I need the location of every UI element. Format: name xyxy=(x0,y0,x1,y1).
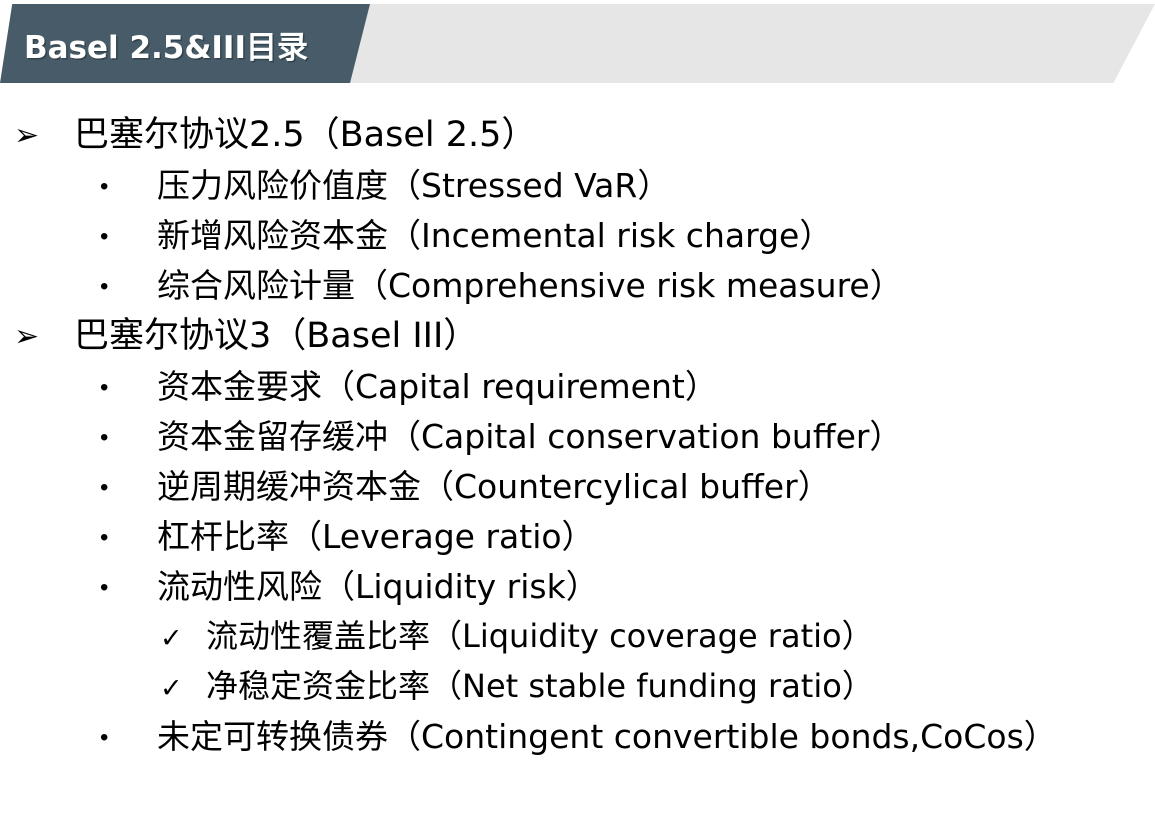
bullet-glyph-level2: • xyxy=(100,225,157,249)
outline-item-level2: •新增风险资本金（Incemental risk charge） xyxy=(0,219,1155,269)
bullet-glyph-level2: • xyxy=(100,726,157,750)
outline-item-label: 巴塞尔协议2.5（Basel 2.5） xyxy=(74,118,536,153)
bullet-glyph-level2: • xyxy=(100,426,157,450)
bullet-glyph-level1: ➢ xyxy=(14,322,74,352)
outline-item-label: 净稳定资金比率（Net stable funding ratio） xyxy=(206,670,874,702)
outline-item-level3: ✓流动性覆盖比率（Liquidity coverage ratio） xyxy=(0,620,1155,670)
bullet-glyph-level3: ✓ xyxy=(160,625,206,652)
outline-item-label: 流动性风险（Liquidity risk） xyxy=(157,570,599,603)
bullet-glyph-level2: • xyxy=(100,376,157,400)
outline-item-label: 巴塞尔协议3（Basel III） xyxy=(74,319,478,354)
outline-item-label: 资本金要求（Capital requirement） xyxy=(157,370,718,403)
bullet-glyph-level2: • xyxy=(100,526,157,550)
outline-list: ➢巴塞尔协议2.5（Basel 2.5）•压力风险价值度（Stressed Va… xyxy=(0,118,1155,770)
outline-item-label: 逆周期缓冲资本金（Countercylical buffer） xyxy=(157,470,831,503)
outline-item-level1: ➢巴塞尔协议2.5（Basel 2.5） xyxy=(0,118,1155,169)
outline-item-level2: •资本金留存缓冲（Capital conservation buffer） xyxy=(0,420,1155,470)
title-banner: Basel 2.5&III目录 xyxy=(0,0,1155,92)
outline-item-level2: •杠杆比率（Leverage ratio） xyxy=(0,520,1155,570)
outline-item-level2: •压力风险价值度（Stressed VaR） xyxy=(0,169,1155,219)
outline-item-label: 杠杆比率（Leverage ratio） xyxy=(157,520,595,553)
bullet-glyph-level2: • xyxy=(100,175,157,199)
outline-item-level1: ➢巴塞尔协议3（Basel III） xyxy=(0,319,1155,370)
outline-item-level2: •综合风险计量（Comprehensive risk measure） xyxy=(0,269,1155,319)
slide-title: Basel 2.5&III目录 xyxy=(24,22,308,67)
outline-item-level3: ✓净稳定资金比率（Net stable funding ratio） xyxy=(0,670,1155,720)
bullet-glyph-level2: • xyxy=(100,476,157,500)
bullet-glyph-level2: • xyxy=(100,576,157,600)
outline-item-label: 资本金留存缓冲（Capital conservation buffer） xyxy=(157,420,902,453)
bullet-glyph-level3: ✓ xyxy=(160,675,206,702)
outline-item-level2: •流动性风险（Liquidity risk） xyxy=(0,570,1155,620)
outline-item-level2: •未定可转换债券（Contingent convertible bonds,Co… xyxy=(0,720,1155,770)
bullet-glyph-level1: ➢ xyxy=(14,121,74,151)
outline-item-label: 压力风险价值度（Stressed VaR） xyxy=(157,169,670,202)
outline-item-label: 流动性覆盖比率（Liquidity coverage ratio） xyxy=(206,620,874,652)
outline-item-label: 新增风险资本金（Incemental risk charge） xyxy=(157,219,832,252)
outline-item-level2: •逆周期缓冲资本金（Countercylical buffer） xyxy=(0,470,1155,520)
outline-item-label: 综合风险计量（Comprehensive risk measure） xyxy=(157,269,903,302)
bullet-glyph-level2: • xyxy=(100,275,157,299)
outline-item-label: 未定可转换债券（Contingent convertible bonds,CoC… xyxy=(157,720,1057,753)
outline-item-level2: •资本金要求（Capital requirement） xyxy=(0,370,1155,420)
